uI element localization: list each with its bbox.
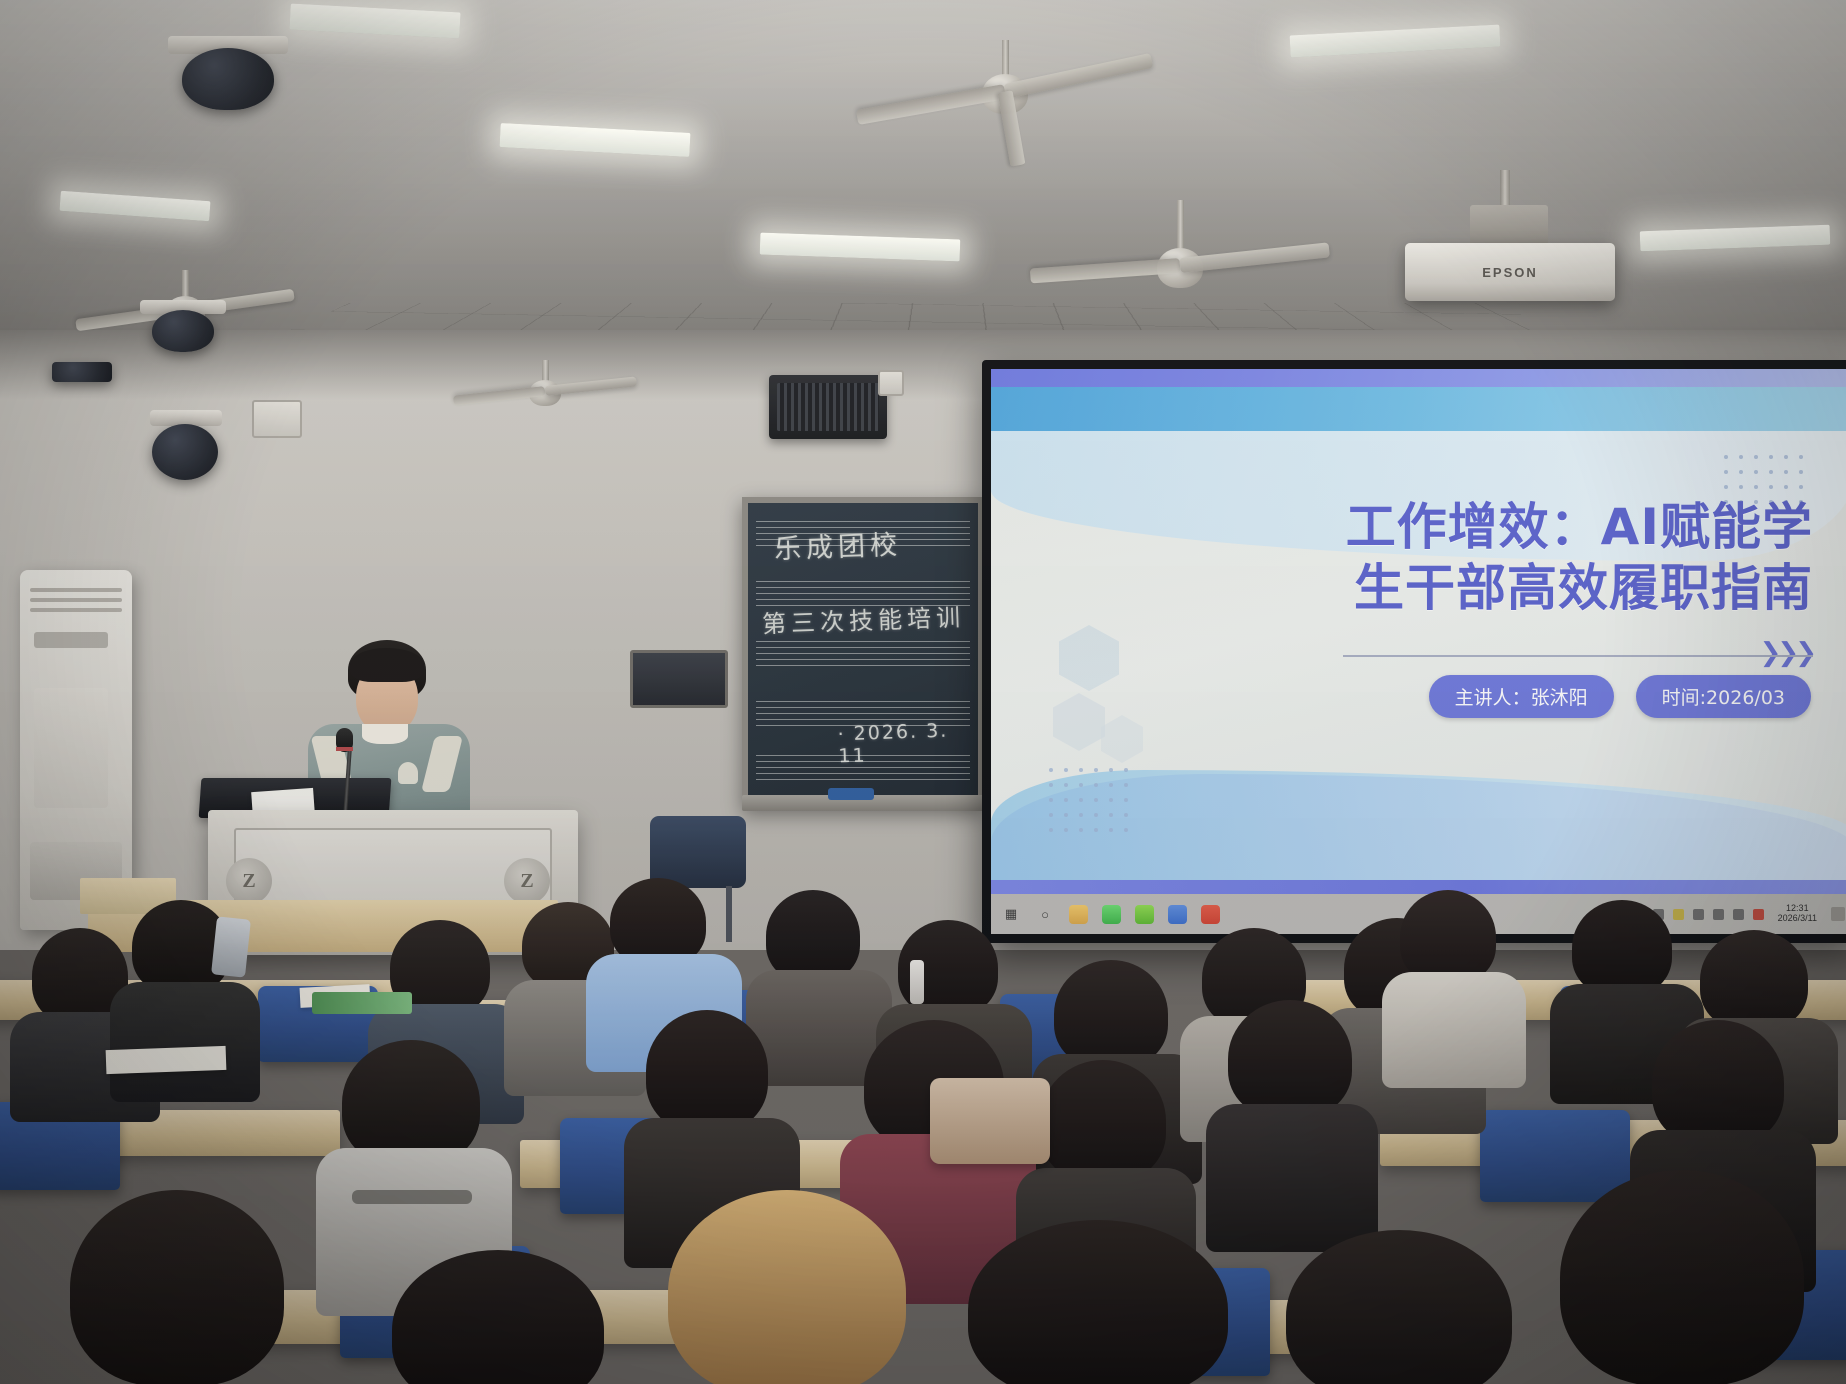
slide-badges: 主讲人：张沐阳 时间:2026/03 bbox=[1429, 675, 1811, 718]
clock-time: 12:31 bbox=[1786, 903, 1809, 913]
notebook bbox=[106, 1046, 227, 1074]
student-hair bbox=[70, 1190, 284, 1384]
green-banner bbox=[312, 992, 412, 1014]
student-hair bbox=[610, 878, 706, 966]
student-jacket bbox=[110, 982, 260, 1102]
taskbar-clock[interactable]: 12:31 2026/3/11 bbox=[1778, 904, 1817, 924]
board-eraser bbox=[828, 788, 874, 800]
presenter-collar bbox=[362, 724, 408, 744]
presentation-slide: 工作增效：AI赋能学 生干部高效履职指南 ❯❯❯ 主讲人：张沐阳 时间:2026… bbox=[991, 369, 1846, 894]
search-icon[interactable]: ○ bbox=[1035, 904, 1055, 924]
blackboard: 乐成团校 第三次技能培训 · 2026. 3. 11 bbox=[742, 497, 984, 809]
date-badge: 时间:2026/03 bbox=[1636, 675, 1811, 718]
microphone-ring bbox=[336, 747, 353, 751]
wall-sensor bbox=[52, 362, 112, 382]
lecture-hall-photo: EPSON 乐成团校 第三次技能培训 · 2026. 3. 11 bbox=[0, 0, 1846, 1384]
student-coat bbox=[1382, 972, 1526, 1088]
tray-icon-network[interactable] bbox=[1693, 909, 1704, 920]
student bbox=[50, 1190, 300, 1384]
student-hair bbox=[1400, 890, 1496, 984]
file-explorer-icon[interactable] bbox=[1069, 905, 1088, 924]
slide-divider bbox=[1343, 655, 1813, 657]
student-hair bbox=[1652, 1020, 1784, 1146]
student-hair bbox=[766, 890, 860, 982]
student-hair bbox=[1572, 900, 1672, 996]
dome-camera bbox=[182, 48, 274, 110]
tray-icon-battery[interactable] bbox=[1733, 909, 1744, 920]
student-hair bbox=[646, 1010, 768, 1132]
projector-mount bbox=[1470, 205, 1548, 245]
student-hair bbox=[1228, 1000, 1352, 1118]
slide-title-line-2: 生干部高效履职指南 bbox=[991, 558, 1813, 619]
student bbox=[372, 1250, 622, 1384]
student bbox=[1210, 1000, 1370, 1240]
projector-stem bbox=[1500, 170, 1510, 210]
blackboard-line-1: 乐成团校 bbox=[773, 523, 902, 566]
tray-icon-volume[interactable] bbox=[1713, 909, 1724, 920]
student bbox=[648, 1190, 928, 1384]
qq-music-icon[interactable] bbox=[1135, 905, 1154, 924]
student-hair bbox=[392, 1250, 604, 1384]
water-bottle bbox=[910, 960, 924, 1004]
wechat-icon[interactable] bbox=[1102, 905, 1121, 924]
projector-brand-label: EPSON bbox=[1482, 265, 1538, 280]
wall-speaker bbox=[769, 375, 887, 439]
wall-outlet-panel bbox=[252, 400, 302, 438]
student bbox=[1540, 1170, 1820, 1384]
blackboard-line-2: 第三次技能培训 bbox=[761, 597, 965, 639]
backpack-strap bbox=[352, 1190, 472, 1204]
student-hair bbox=[1700, 930, 1808, 1030]
ptz-camera bbox=[152, 424, 218, 480]
ceiling-projector: EPSON bbox=[1405, 243, 1615, 301]
lectern-seal: Z bbox=[226, 858, 272, 904]
slide-title-line-1: 工作增效：AI赋能学 bbox=[991, 497, 1813, 558]
notifications-icon[interactable] bbox=[1831, 907, 1845, 921]
student-hair bbox=[1040, 1060, 1166, 1182]
blackboard-line-3: · 2026. 3. 11 bbox=[837, 719, 978, 768]
air-conditioner bbox=[20, 570, 132, 930]
clock-date: 2026/3/11 bbox=[1778, 913, 1817, 923]
dome-camera bbox=[152, 310, 214, 352]
slide-title: 工作增效：AI赋能学 生干部高效履职指南 bbox=[991, 497, 1813, 619]
lectern-seal: Z bbox=[504, 858, 550, 904]
student bbox=[1268, 1230, 1528, 1384]
student bbox=[1390, 890, 1510, 1070]
wall-junction-box bbox=[878, 370, 904, 396]
slide-hexagon-decor bbox=[1049, 619, 1179, 769]
student-hair bbox=[1054, 960, 1168, 1068]
student-hair bbox=[1560, 1170, 1804, 1384]
wall-monitor bbox=[630, 650, 728, 708]
presenter-jacket-logo bbox=[398, 762, 418, 784]
student-hair bbox=[1286, 1230, 1512, 1384]
slide-dot-grid-bottom-left bbox=[1049, 768, 1128, 832]
app-blue-icon[interactable] bbox=[1168, 905, 1187, 924]
projection-screen: 工作增效：AI赋能学 生干部高效履职指南 ❯❯❯ 主讲人：张沐阳 时间:2026… bbox=[982, 360, 1846, 943]
chevron-right-icon: ❯❯❯ bbox=[1760, 637, 1813, 668]
speaker-badge: 主讲人：张沐阳 bbox=[1429, 675, 1614, 718]
presenter-hair-front bbox=[350, 648, 424, 682]
desk-bag bbox=[930, 1078, 1050, 1164]
powerpoint-icon[interactable] bbox=[1201, 905, 1220, 924]
phone bbox=[211, 916, 251, 977]
student-hair bbox=[968, 1220, 1228, 1384]
tray-icon-app-red[interactable] bbox=[1753, 909, 1764, 920]
student-hair-blonde bbox=[668, 1190, 906, 1384]
student bbox=[948, 1220, 1248, 1384]
